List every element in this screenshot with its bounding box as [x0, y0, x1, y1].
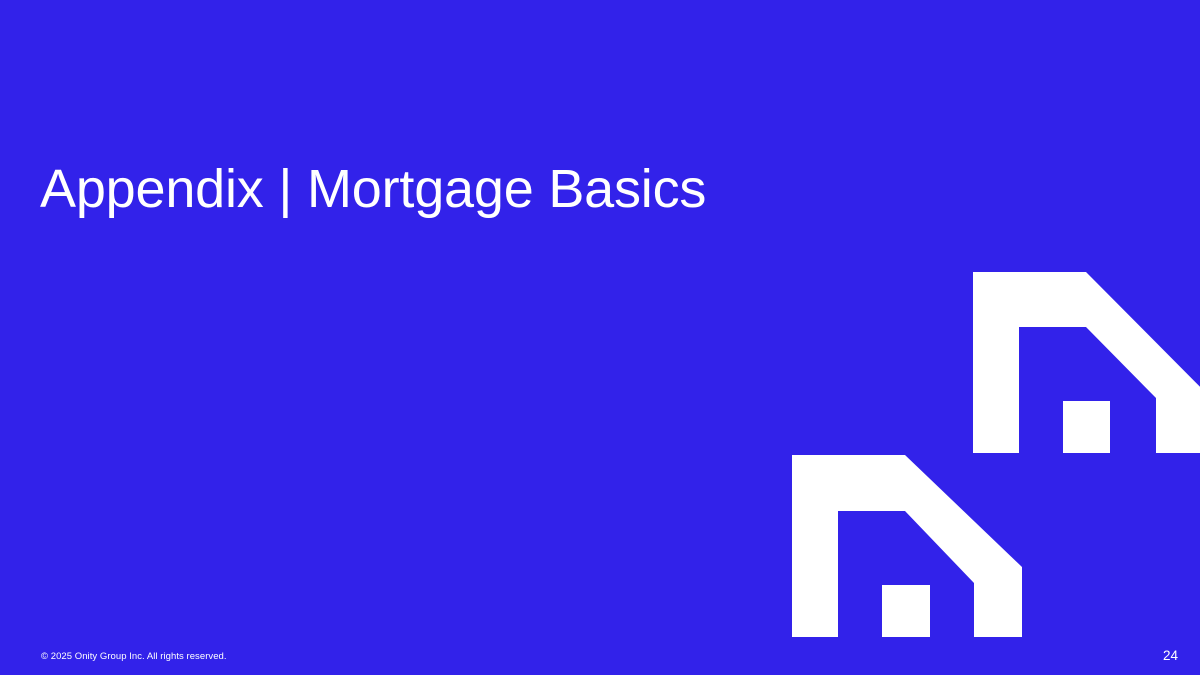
- footer-page-number: 24: [1163, 648, 1178, 664]
- page-title: Appendix | Mortgage Basics: [40, 162, 706, 216]
- slide-background: [0, 0, 1200, 675]
- slide-canvas: Appendix | Mortgage Basics © 2025 Onity …: [0, 0, 1200, 675]
- footer-copyright-text: © 2025 Onity Group Inc. All rights reser…: [41, 651, 227, 662]
- background-rect: [0, 0, 1200, 675]
